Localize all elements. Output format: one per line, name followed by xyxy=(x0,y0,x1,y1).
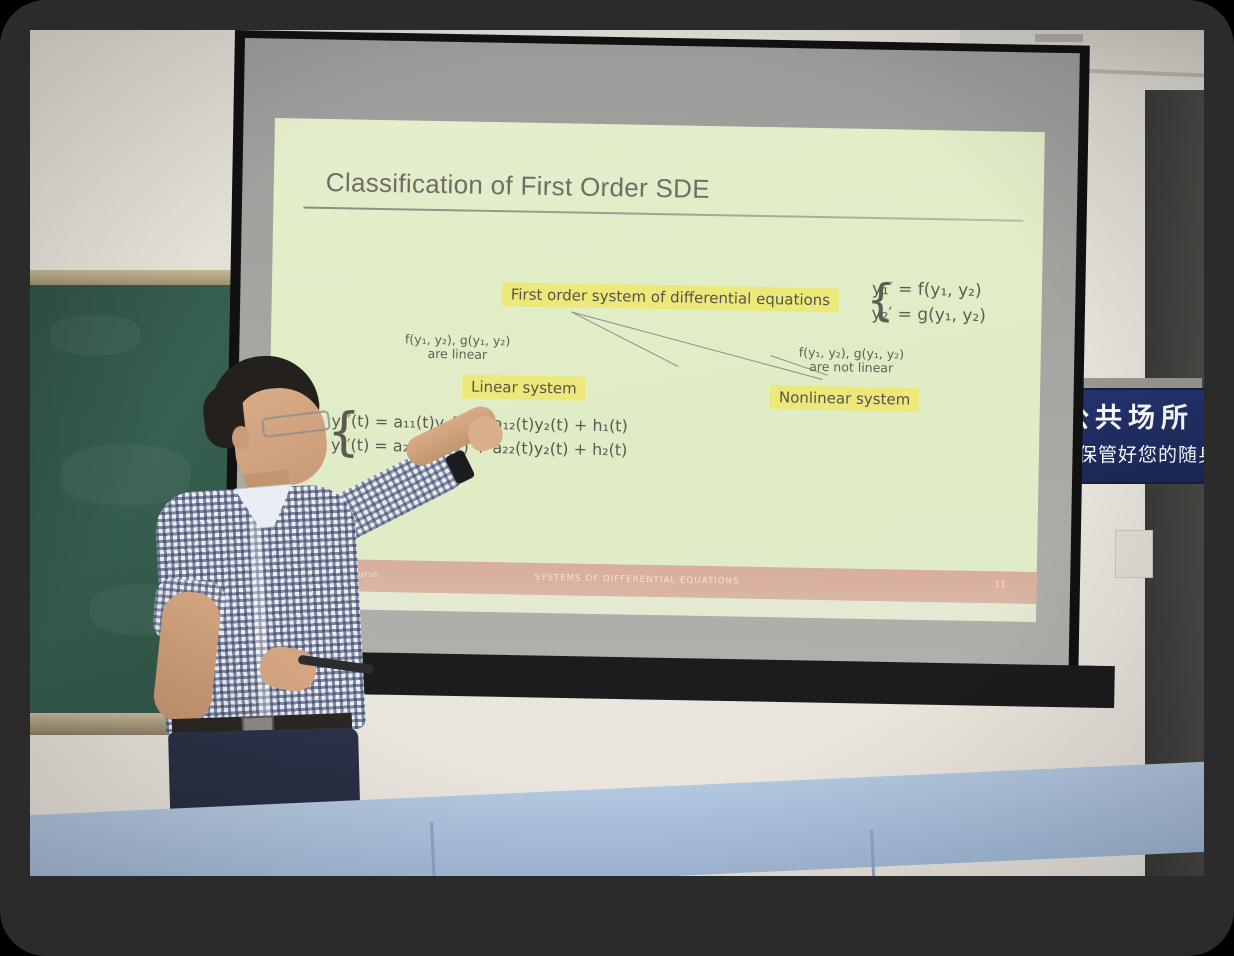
top-category-box: First order system of differential equat… xyxy=(502,282,840,312)
ear xyxy=(232,426,250,450)
connector-left xyxy=(571,312,678,367)
chalk-smudge xyxy=(50,315,140,355)
linear-system-box: Linear system xyxy=(462,374,586,400)
linear-system-label: Linear system xyxy=(462,374,586,400)
ceiling-label xyxy=(1035,34,1083,42)
lecture-photo: 公共场所 请保管好您的随身物品 Classification of First … xyxy=(30,30,1204,876)
nonlinear-system-label: Nonlinear system xyxy=(770,385,920,412)
connector-right xyxy=(571,311,822,379)
slide-title: Classification of First Order SDE xyxy=(326,167,711,205)
right-condition: f(y₁, y₂), g(y₁, y₂) are not linear xyxy=(798,346,904,376)
top-category-label: First order system of differential equat… xyxy=(502,282,840,312)
right-condition-line-2: are not linear xyxy=(798,360,904,376)
general-system: y₁′ = f(y₁, y₂) y₂′ = g(y₁, y₂) xyxy=(871,277,986,328)
general-system-row-1: y₁′ = f(y₁, y₂) xyxy=(872,277,987,304)
title-underline xyxy=(303,207,1023,222)
photo-frame: 公共场所 请保管好您的随身物品 Classification of First … xyxy=(0,0,1234,956)
nonlinear-system-box: Nonlinear system xyxy=(770,385,920,412)
presenter xyxy=(150,330,480,876)
footer-page-number: 11 xyxy=(994,580,1006,590)
general-system-row-2: y₂′ = g(y₁, y₂) xyxy=(871,302,986,329)
wall-panel xyxy=(1115,530,1153,578)
